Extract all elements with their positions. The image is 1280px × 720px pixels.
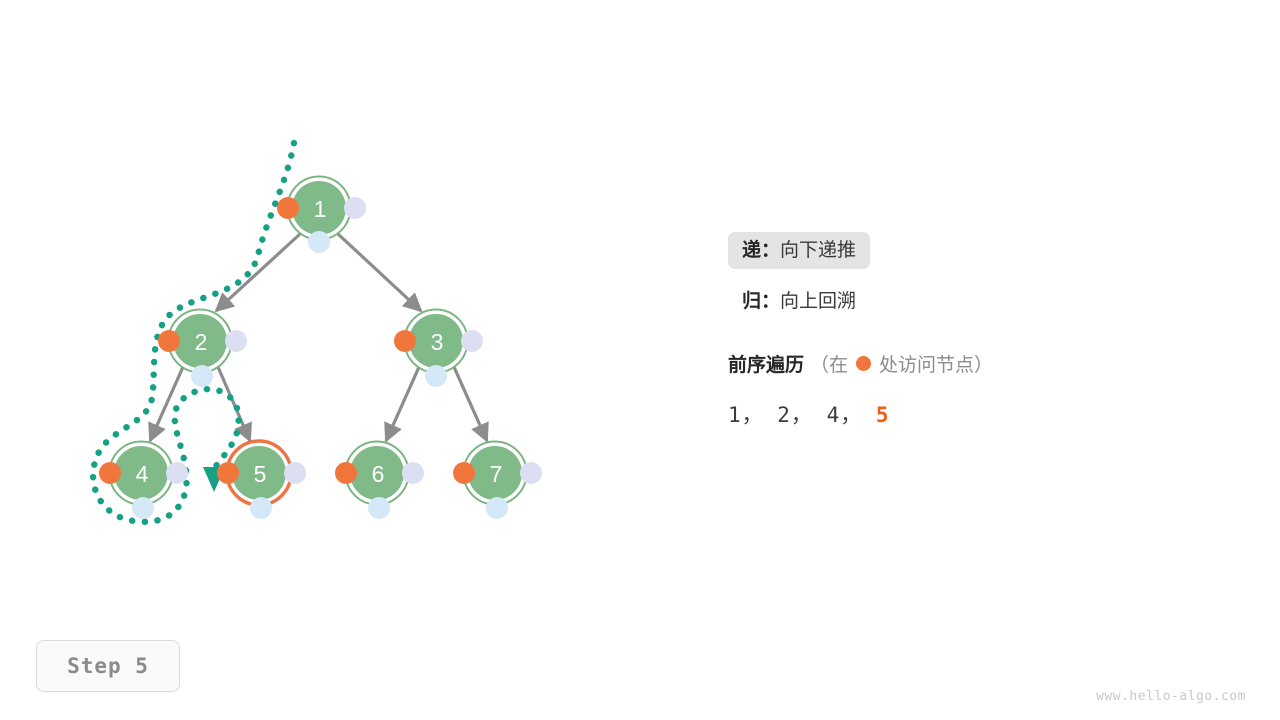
sequence-current: 5 [876,403,890,427]
inorder-dot [166,462,188,484]
postorder-dot [132,497,154,519]
preorder-dot [277,197,299,219]
preorder-dot-icon [856,356,871,371]
traversal-note-open: （在 [810,350,848,377]
postorder-dot [191,365,213,387]
inorder-dot [344,197,366,219]
sequence-visited: 1， 2， 4， [728,403,862,427]
site-watermark: www.hello-algo.com [1096,689,1246,704]
inorder-dot [284,462,306,484]
preorder-dot [217,462,239,484]
info-panel: 递：向下递推 归：向上回溯 前序遍历 （在 处访问节点） 1， 2， 4， 5 [728,232,1228,429]
traversal-type-label: 前序遍历 [728,350,804,377]
preorder-dot [99,462,121,484]
traversal-sequence: 1， 2， 4， 5 [728,399,1228,429]
node-label: 5 [254,461,267,487]
tree-node-6[interactable]: 6 [335,442,424,520]
legend-row-recurse: 递：向下递推 [728,232,1228,269]
postorder-dot [486,497,508,519]
postorder-dot [308,231,330,253]
tree-node-2[interactable]: 2 [158,310,247,388]
legend-value: 向上回溯 [780,291,856,312]
traversal-title-row: 前序遍历 （在 处访问节点） [728,350,1228,377]
preorder-dot [335,462,357,484]
node-label: 4 [136,461,149,487]
tree-node-3[interactable]: 3 [394,310,483,388]
tree-node-5[interactable]: 5 [217,441,306,519]
legend-value: 向下递推 [780,240,856,261]
tree-node-4[interactable]: 4 [99,442,188,520]
legend-row-backtrack: 归：向上回溯 [728,283,1228,320]
postorder-dot [368,497,390,519]
node-label: 3 [431,329,444,355]
preorder-dot [453,462,475,484]
diagram-canvas: 1 2 3 4 [0,0,1280,720]
legend-plain-box: 归：向上回溯 [728,283,870,320]
preorder-dot [158,330,180,352]
inorder-dot [402,462,424,484]
preorder-dot [394,330,416,352]
edge-2-5 [218,367,250,441]
node-label: 1 [314,196,327,222]
postorder-dot [425,365,447,387]
edge-3-7 [454,367,487,441]
legend-key: 归： [742,291,780,312]
node-label: 6 [372,461,385,487]
inorder-dot [520,462,542,484]
legend-key: 递： [742,240,780,261]
legend-highlight-box: 递：向下递推 [728,232,870,269]
inorder-dot [461,330,483,352]
step-badge: Step 5 [36,640,180,692]
edge-1-3 [338,234,421,311]
postorder-dot [250,497,272,519]
traversal-note-close: 处访问节点） [879,350,993,377]
node-label: 7 [490,461,503,487]
node-label: 2 [195,329,208,355]
edge-1-2 [216,234,300,311]
tree-node-7[interactable]: 7 [453,442,542,520]
edge-3-6 [386,367,419,441]
inorder-dot [225,330,247,352]
